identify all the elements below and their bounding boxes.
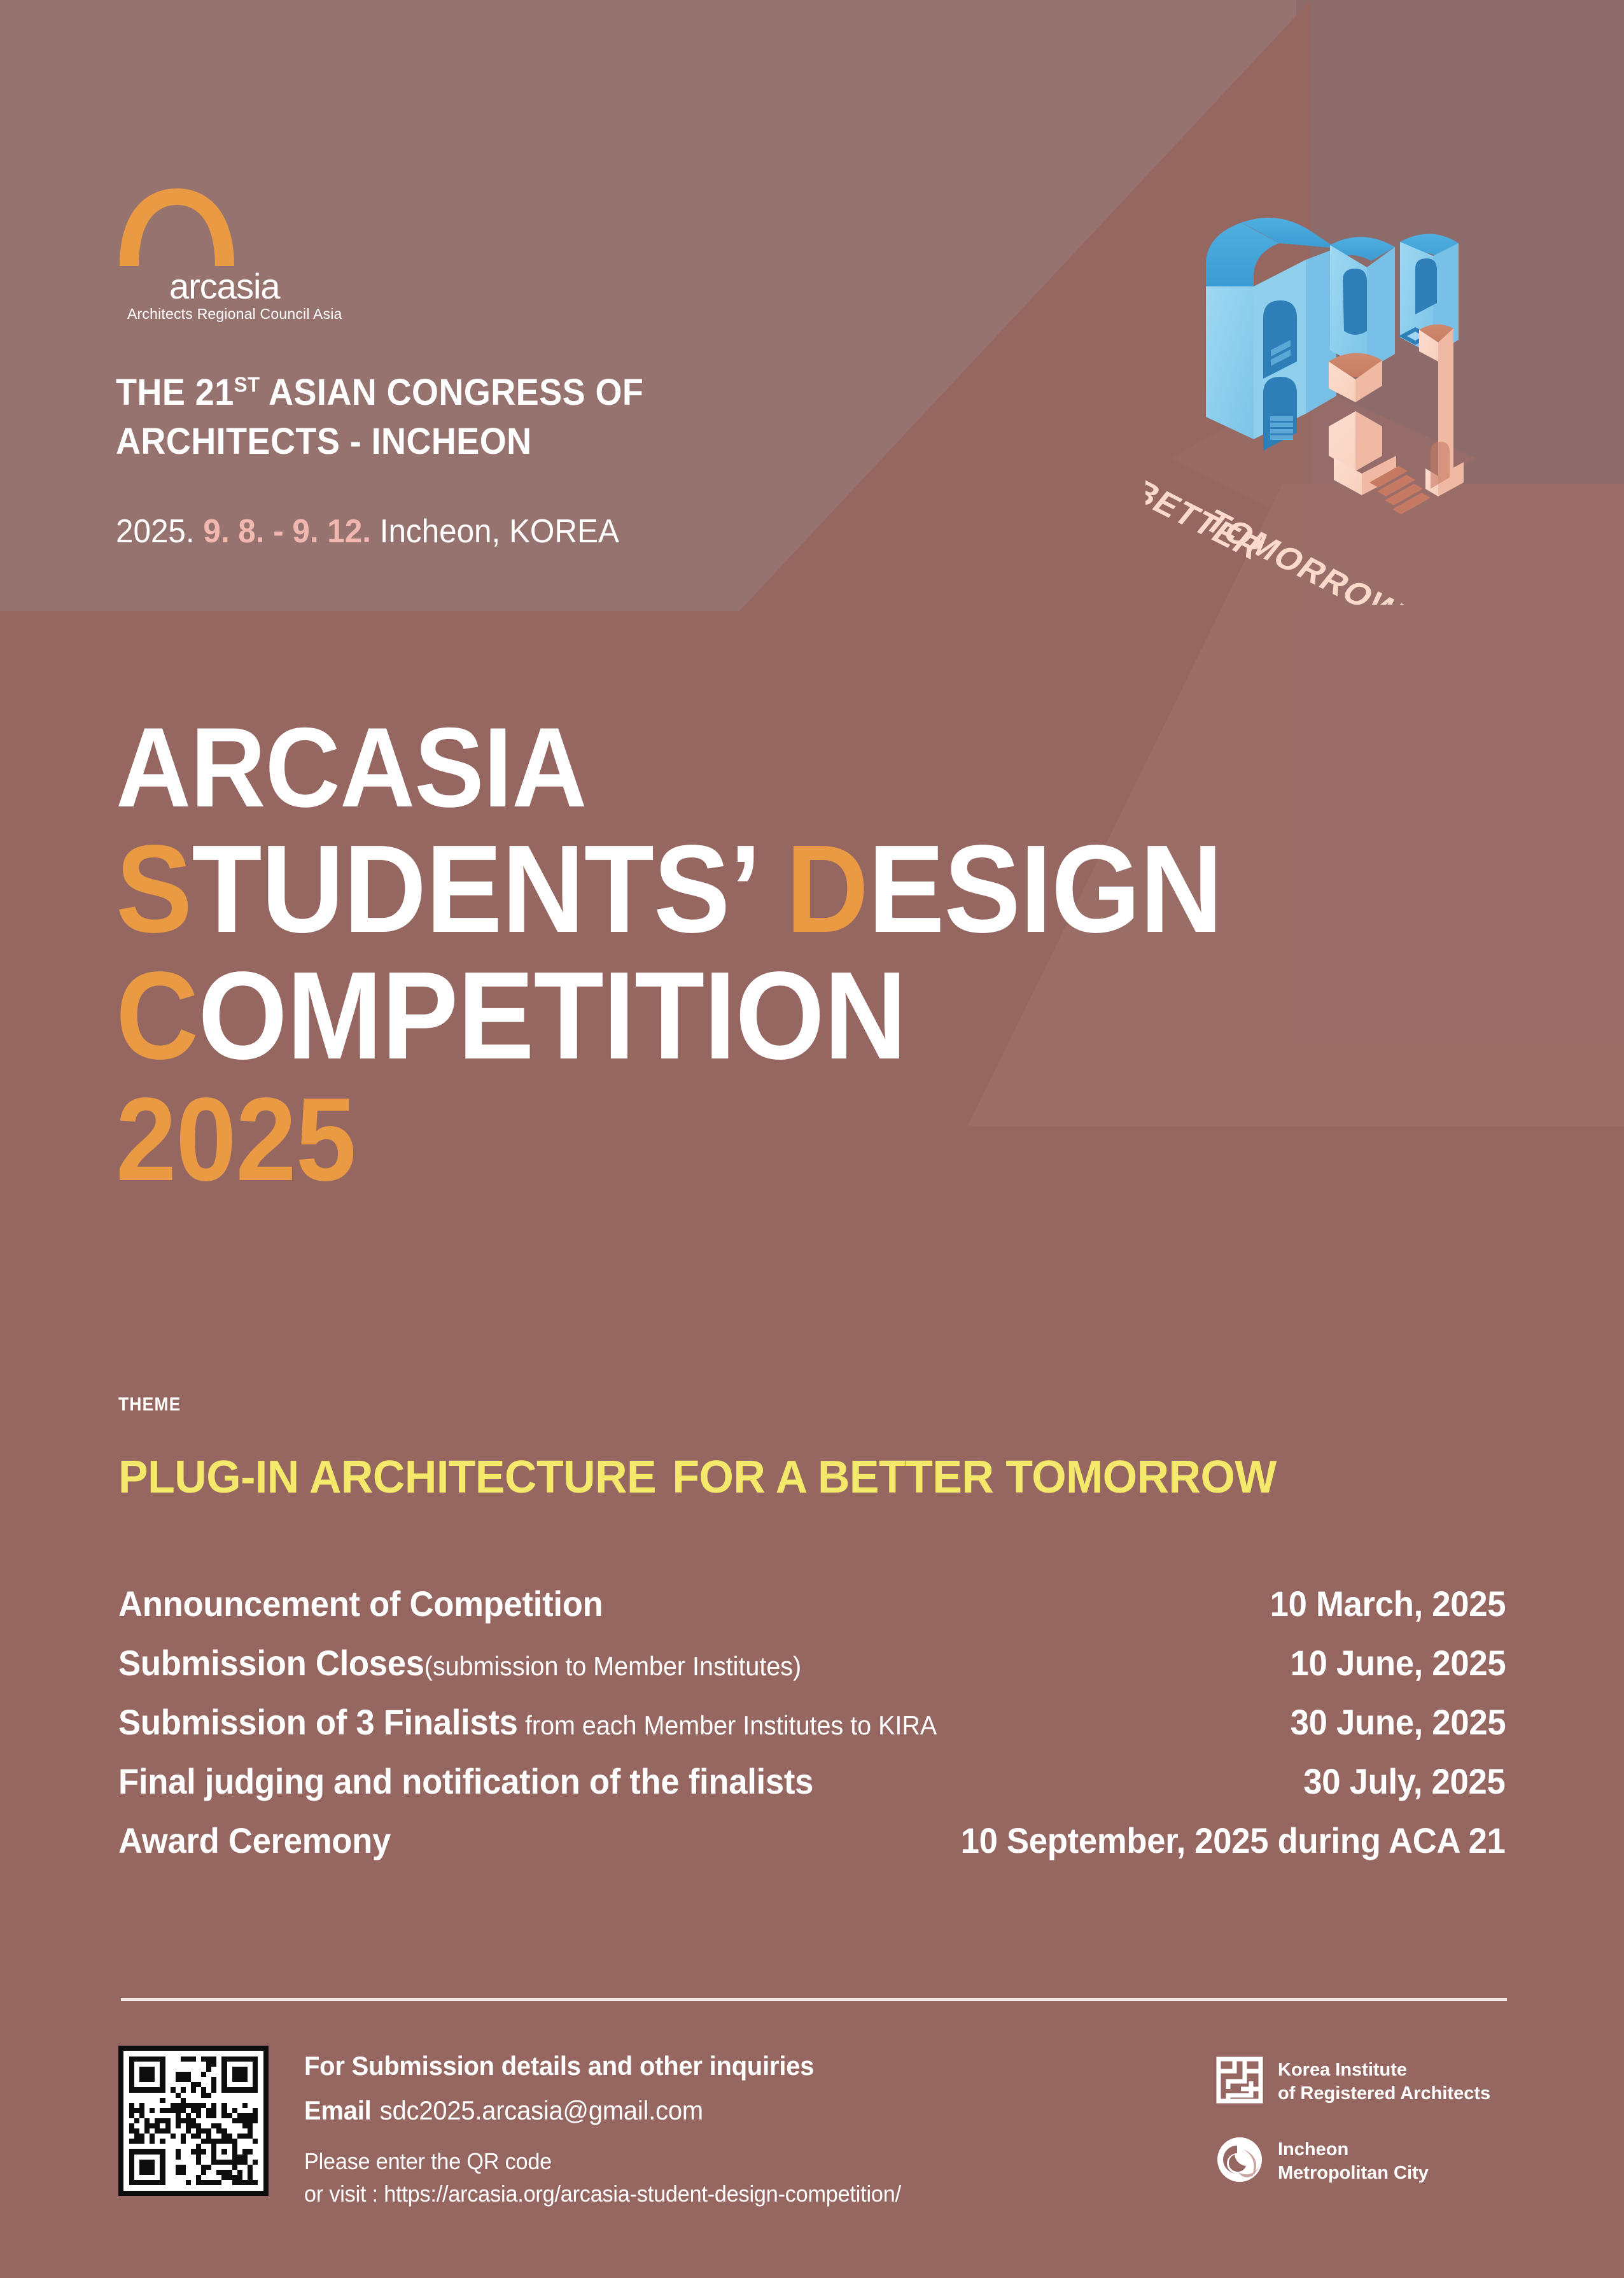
footer-contact-block: For Submission details and other inquiri… xyxy=(304,2051,932,2210)
qr-code-icon[interactable] xyxy=(118,2046,269,2196)
footer-email-value[interactable]: sdc2025.arcasia@gmail.com xyxy=(380,2095,703,2125)
congress-line2: ARCHITECTS - INCHEON xyxy=(116,421,532,462)
schedule-item-label: Submission Closes(submission to Member I… xyxy=(118,1642,801,1684)
qr-code-quiet-zone xyxy=(123,2051,263,2191)
schedule-item-label: Award Ceremony xyxy=(118,1820,391,1861)
event-date-line: 2025. 9. 8. - 9. 12. Incheon, KOREA xyxy=(116,512,619,551)
congress-line1-post: ASIAN CONGRESS OF xyxy=(260,372,644,413)
footer-email-row: Emailsdc2025.arcasia@gmail.com xyxy=(304,2095,901,2126)
incheon-name-line-2: Metropolitan City xyxy=(1278,2162,1429,2185)
footer-note-line-2[interactable]: or visit : https://arcasia.org/arcasia-s… xyxy=(304,2177,901,2210)
theme-statement: PLUG-IN ARCHITECTUREFOR A BETTER TOMORRO… xyxy=(118,1451,1508,1503)
qr-code-modules xyxy=(129,2057,258,2185)
schedule-label-sub: (submission to Member Institutes) xyxy=(424,1651,801,1681)
sponsor-incheon: Incheon Metropolitan City xyxy=(1215,2135,1508,2187)
schedule-row: Announcement of Competition 10 March, 20… xyxy=(118,1583,1506,1642)
schedule-item-label: Final judging and notification of the fi… xyxy=(118,1761,813,1802)
kira-name-line-1: Korea Institute xyxy=(1278,2058,1490,2082)
footer-heading: For Submission details and other inquiri… xyxy=(304,2051,901,2081)
schedule-item-label: Submission of 3 Finalistsfrom each Membe… xyxy=(118,1701,937,1743)
title-accent-d: D xyxy=(786,819,868,959)
incheon-swirl-icon xyxy=(1215,2135,1264,2187)
poster-canvas: arcasia Architects Regional Council Asia… xyxy=(0,0,1624,2278)
arch-icon xyxy=(113,186,342,269)
title-accent-c: C xyxy=(116,946,198,1085)
schedule-label-text: Announcement of Competition xyxy=(118,1584,603,1624)
theme-part-2: FOR A BETTER TOMORROW xyxy=(672,1452,1276,1503)
event-city: Incheon, KOREA xyxy=(380,513,619,550)
kira-name-line-2: of Registered Architects xyxy=(1278,2082,1490,2106)
schedule-label-sub: from each Member Institutes to KIRA xyxy=(525,1710,937,1740)
footer-email-label: Email xyxy=(304,2095,372,2125)
schedule-label-text: Award Ceremony xyxy=(118,1820,391,1860)
schedule-label-text: Submission of 3 Finalists xyxy=(118,1702,518,1742)
sponsor-kira: Korea Institute of Registered Architects xyxy=(1215,2056,1508,2107)
kira-name: Korea Institute of Registered Architects xyxy=(1278,2058,1490,2105)
arcasia-logo: arcasia Architects Regional Council Asia xyxy=(113,186,342,313)
event-year: 2025. xyxy=(116,513,195,550)
incheon-name-line-1: Incheon xyxy=(1278,2138,1429,2162)
congress-line1-sup: ST xyxy=(234,374,260,397)
footer-note: Please enter the QR code or visit : http… xyxy=(304,2145,901,2210)
title-line-3-rest: OMPETITION xyxy=(198,946,906,1085)
congress-title: THE 21ST ASIAN CONGRESS OF ARCHITECTS - … xyxy=(116,368,856,466)
aca21-logo: A BETTER TOMORROW xyxy=(1145,159,1502,605)
schedule-label-text: Final judging and notification of the fi… xyxy=(118,1761,813,1801)
schedule-item-date: 10 March, 2025 xyxy=(1270,1583,1506,1624)
schedule-item-label: Announcement of Competition xyxy=(118,1583,603,1624)
theme-part-1: PLUG-IN ARCHITECTURE xyxy=(118,1452,656,1503)
schedule-row: Award Ceremony 10 September, 2025 during… xyxy=(118,1820,1506,1879)
title-line-2: STUDENTS’ DESIGN xyxy=(116,826,1404,953)
title-year: 2025 xyxy=(116,1079,1404,1200)
kira-seal-icon xyxy=(1215,2056,1264,2107)
schedule-row: Submission of 3 Finalistsfrom each Membe… xyxy=(118,1701,1506,1761)
schedule-item-date: 30 July, 2025 xyxy=(1304,1761,1506,1802)
schedule-row: Submission Closes(submission to Member I… xyxy=(118,1642,1506,1701)
schedule-label-text: Submission Closes xyxy=(118,1643,424,1683)
footer-divider xyxy=(121,1998,1507,2001)
schedule-list: Announcement of Competition 10 March, 20… xyxy=(118,1583,1506,1879)
event-dates: 9. 8. - 9. 12. xyxy=(203,513,371,550)
schedule-item-date: 10 September, 2025 during ACA 21 xyxy=(961,1820,1506,1861)
incheon-name: Incheon Metropolitan City xyxy=(1278,2138,1429,2184)
sponsor-logos: Korea Institute of Registered Architects… xyxy=(1215,2056,1508,2215)
title-line-2-rest: TUDENTS’ xyxy=(192,819,785,959)
title-line-1: ARCASIA xyxy=(116,710,1404,826)
schedule-item-date: 30 June, 2025 xyxy=(1290,1701,1506,1743)
schedule-row: Final judging and notification of the fi… xyxy=(118,1761,1506,1820)
aca21-isometric-illustration: A BETTER TOMORROW xyxy=(1145,159,1502,605)
page-title: ARCASIA STUDENTS’ DESIGN COMPETITION 202… xyxy=(116,710,1404,1200)
theme-label: THEME xyxy=(118,1394,181,1416)
congress-line1-pre: THE 21 xyxy=(116,372,234,413)
footer-note-line-1: Please enter the QR code xyxy=(304,2145,901,2177)
arcasia-tagline: Architects Regional Council Asia xyxy=(127,306,342,323)
title-line-2-rest2: ESIGN xyxy=(868,819,1222,959)
arcasia-wordmark: arcasia xyxy=(169,265,280,307)
title-line-3: COMPETITION xyxy=(116,952,1404,1079)
title-accent-s: S xyxy=(116,819,192,959)
schedule-item-date: 10 June, 2025 xyxy=(1290,1642,1506,1684)
